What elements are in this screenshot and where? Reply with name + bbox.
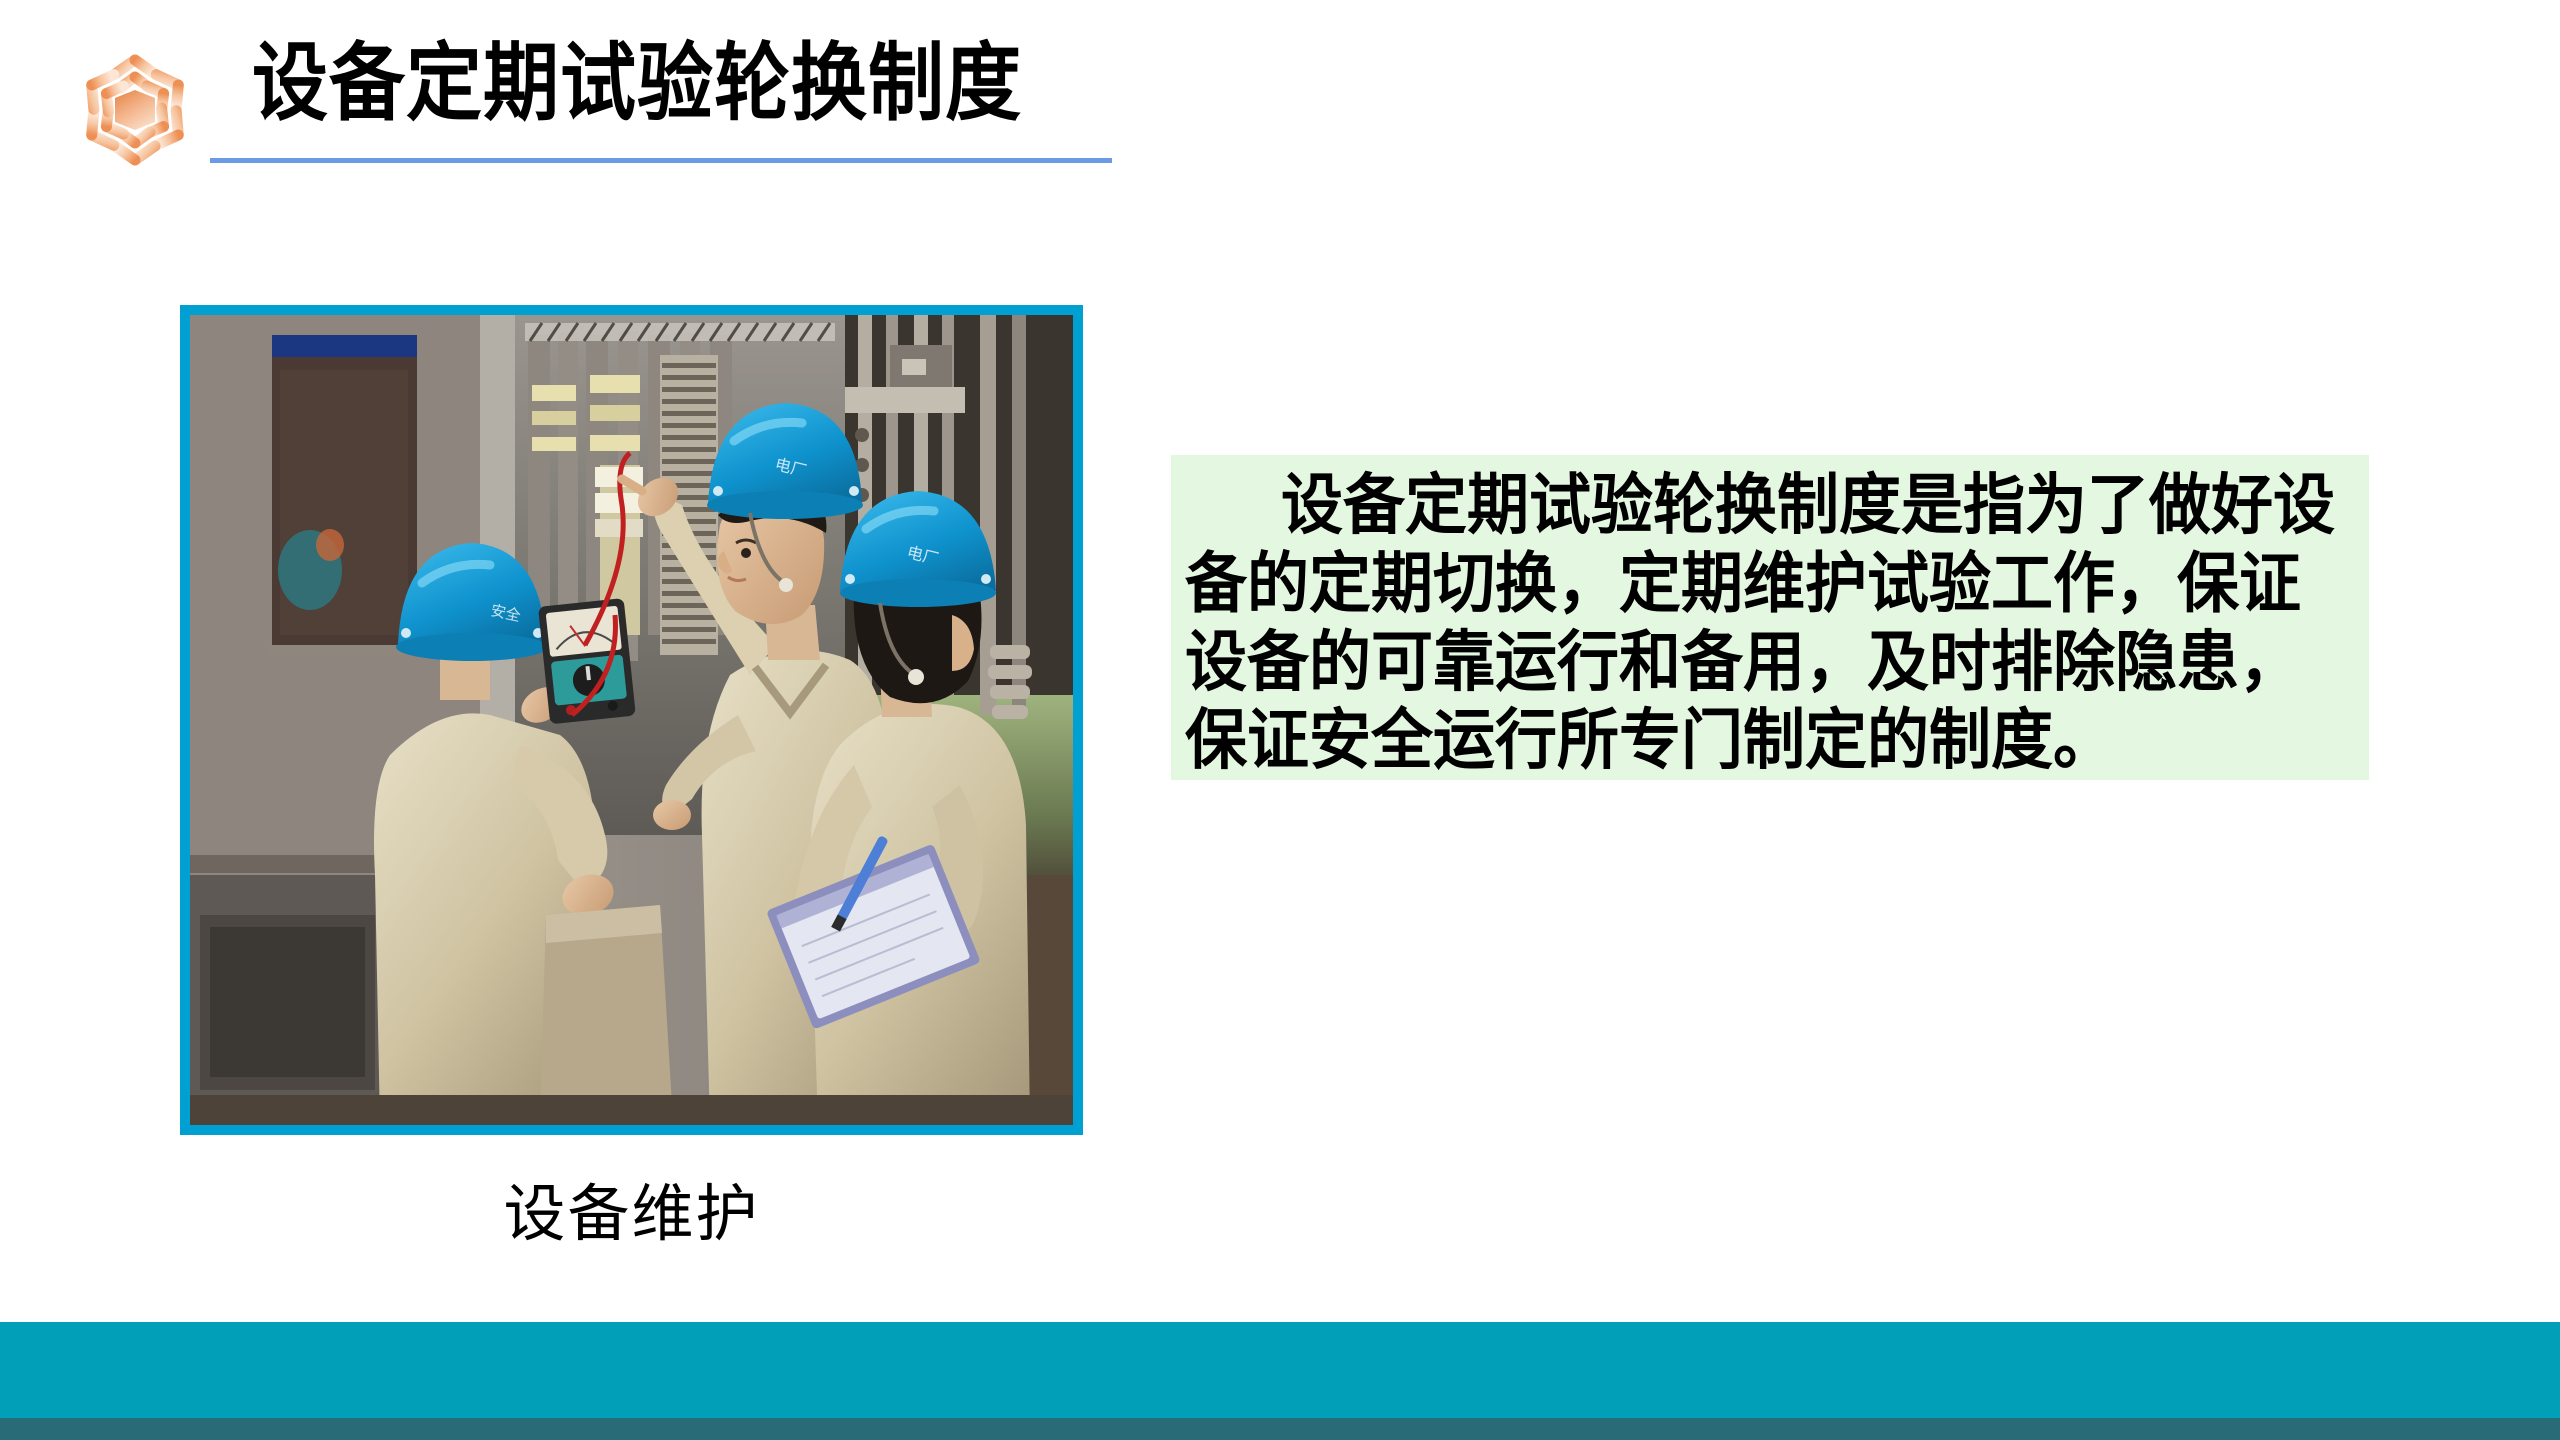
- title-underline: [210, 158, 1112, 163]
- footer-bar-accent: [0, 1418, 2560, 1440]
- equipment-maintenance-photo: 安全: [190, 315, 1073, 1125]
- description-box: 设备定期试验轮换制度是指为了做好设备的定期切换，定期维护试验工作，保证设备的可靠…: [1171, 455, 2369, 780]
- snowflake-icon: [50, 40, 220, 180]
- equipment-maintenance-photo-frame: 安全: [180, 305, 1083, 1135]
- photo-caption: 设备维护: [180, 1175, 1083, 1255]
- slide-canvas: 设备定期试验轮换制度: [0, 0, 2560, 1440]
- slide-header: 设备定期试验轮换制度: [0, 0, 2560, 190]
- footer-bar: [0, 1322, 2560, 1418]
- description-text: 设备定期试验轮换制度是指为了做好设备的定期切换，定期维护试验工作，保证设备的可靠…: [1185, 467, 2355, 781]
- page-title: 设备定期试验轮换制度: [252, 22, 1022, 147]
